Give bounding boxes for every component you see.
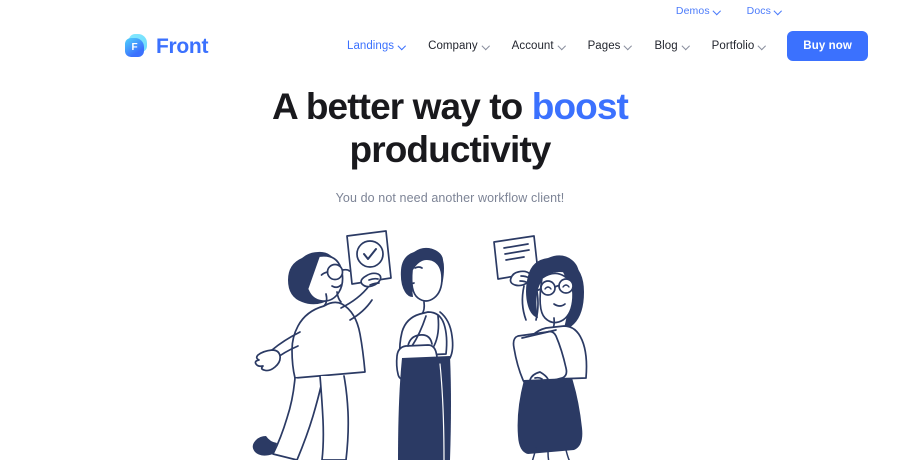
topbar-link-docs-label: Docs	[747, 5, 771, 17]
hero-title-highlight: boost	[532, 86, 628, 129]
nav-item-blog[interactable]: Blog	[643, 34, 700, 58]
nav-item-portfolio-label: Portfolio	[712, 40, 755, 52]
topbar-link-docs[interactable]: Docs	[747, 5, 782, 17]
hero-title-line2: productivity	[350, 129, 551, 170]
topbar-link-demos-label: Demos	[676, 5, 710, 17]
chevron-down-icon	[559, 42, 566, 49]
nav-item-pages-label: Pages	[588, 40, 621, 52]
logo-letter: F	[131, 43, 137, 53]
landing-page: Demos Docs F Front Landings Company	[0, 0, 900, 460]
main-navigation: Landings Company Account Pages Blog Port…	[336, 31, 868, 61]
nav-item-pages[interactable]: Pages	[577, 34, 644, 58]
nav-item-account[interactable]: Account	[501, 34, 577, 58]
front-droplet-logo-icon: F	[124, 34, 148, 58]
nav-item-company[interactable]: Company	[417, 34, 501, 58]
top-utility-bar: Demos Docs	[0, 0, 900, 22]
nav-item-landings-label: Landings	[347, 40, 394, 52]
person-with-shoulder-bag-looking-up	[397, 248, 453, 460]
chevron-down-icon	[483, 42, 490, 49]
brand-logo-link[interactable]: F Front	[124, 34, 208, 58]
three-people-with-documents-illustration	[0, 228, 900, 460]
chevron-down-icon	[759, 42, 766, 49]
hero-section: A better way to boost productivity You d…	[0, 86, 900, 205]
chevron-down-icon	[625, 42, 632, 49]
nav-item-landings[interactable]: Landings	[336, 34, 417, 58]
hero-title-highlight-text: boost	[532, 86, 628, 127]
chevron-down-icon	[775, 7, 782, 14]
site-header: F Front Landings Company Account Pages	[0, 22, 900, 70]
illustration-svg	[240, 228, 660, 460]
nav-item-blog-label: Blog	[654, 40, 677, 52]
chevron-down-icon	[683, 42, 690, 49]
chevron-down-icon	[399, 42, 406, 49]
logo-front-shape: F	[125, 38, 144, 57]
brand-name: Front	[156, 36, 208, 57]
buy-now-button[interactable]: Buy now	[787, 31, 868, 61]
woman-with-glasses-holding-paper-and-folder	[494, 236, 587, 460]
woman-with-glasses-holding-checkmark-document	[253, 231, 391, 460]
chevron-down-icon	[714, 7, 721, 14]
topbar-link-demos[interactable]: Demos	[676, 5, 721, 17]
hero-title-line1-plain: A better way to	[272, 86, 532, 127]
page-title: A better way to boost productivity	[0, 86, 900, 171]
nav-item-company-label: Company	[428, 40, 478, 52]
hero-subtitle: You do not need another workflow client!	[0, 191, 900, 205]
nav-item-account-label: Account	[512, 40, 554, 52]
nav-item-portfolio[interactable]: Portfolio	[701, 34, 778, 58]
